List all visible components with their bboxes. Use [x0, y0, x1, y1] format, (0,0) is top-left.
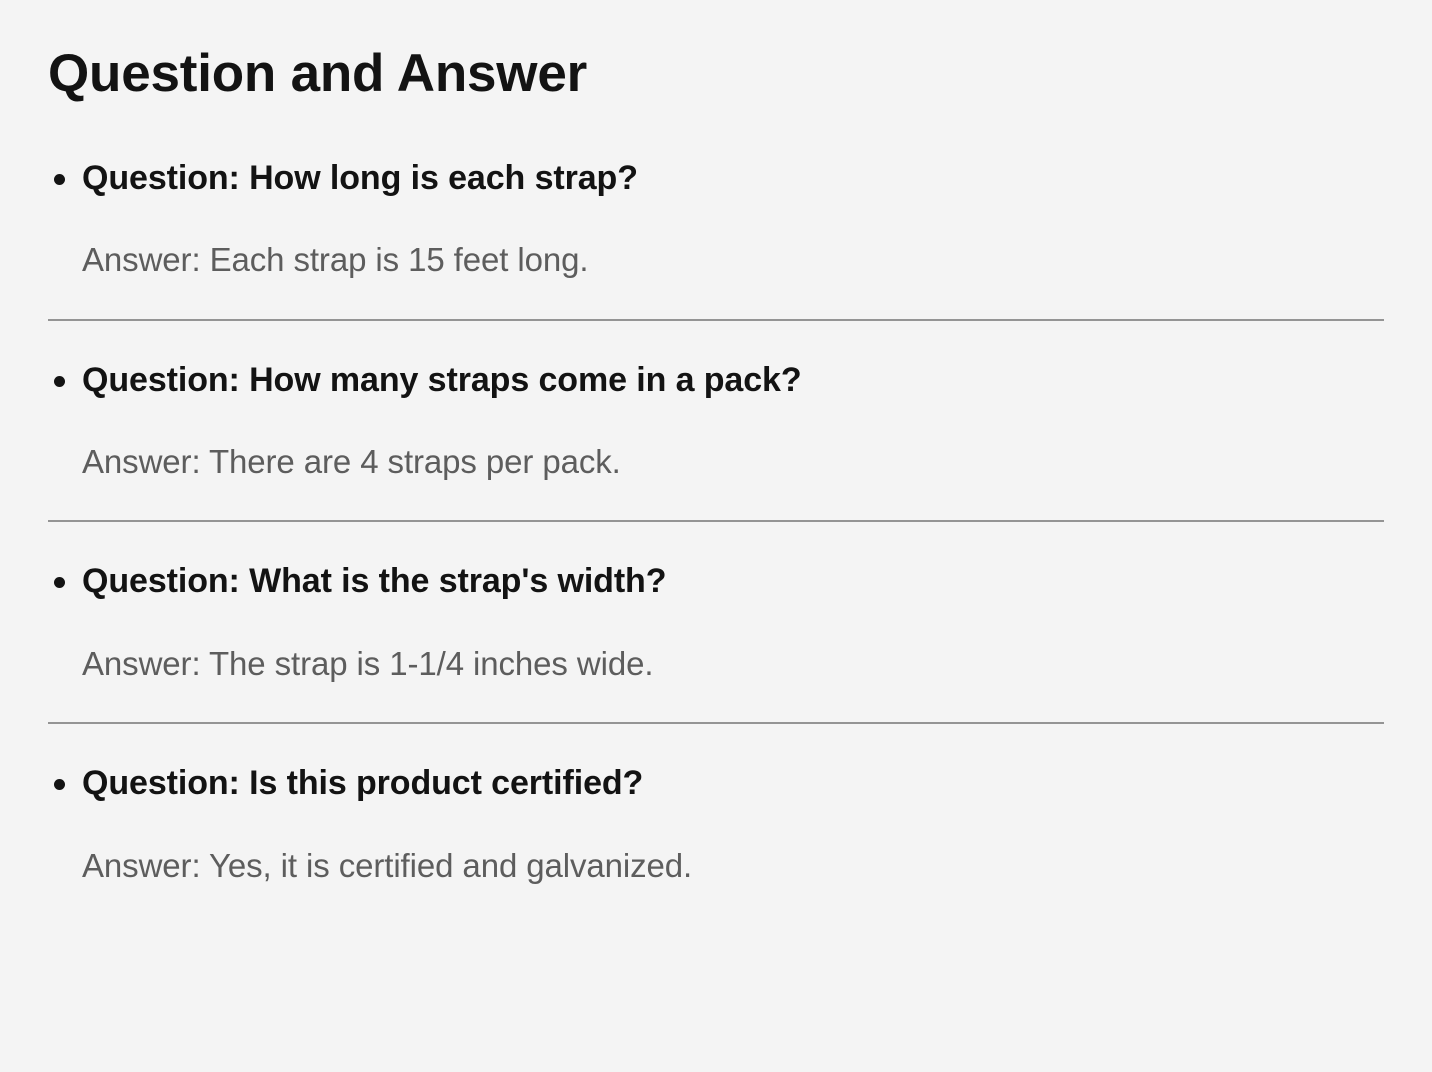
page-title: Question and Answer [48, 0, 1384, 105]
qa-list: Question: How long is each strap? Answer… [48, 157, 1384, 886]
bullet-dot-icon [54, 174, 65, 185]
qa-divider [48, 520, 1384, 522]
qa-item: Question: How many straps come in a pack… [48, 359, 1384, 523]
qa-question: Question: How many straps come in a pack… [82, 359, 1384, 402]
qa-answer: Answer: There are 4 straps per pack. [82, 441, 1384, 482]
qa-answer: Answer: The strap is 1-1/4 inches wide. [82, 643, 1384, 684]
qa-question: Question: What is the strap's width? [82, 560, 1384, 603]
question-and-answer-section: Question and Answer Question: How long i… [0, 0, 1432, 1072]
qa-item: Question: Is this product certified? Ans… [48, 762, 1384, 886]
bullet-dot-icon [54, 376, 65, 387]
qa-divider [48, 722, 1384, 724]
qa-answer: Answer: Yes, it is certified and galvani… [82, 845, 1384, 886]
bullet-dot-icon [54, 779, 65, 790]
qa-answer: Answer: Each strap is 15 feet long. [82, 239, 1384, 280]
bullet-dot-icon [54, 577, 65, 588]
qa-divider [48, 319, 1384, 321]
qa-question: Question: How long is each strap? [82, 157, 1384, 200]
qa-item: Question: How long is each strap? Answer… [48, 157, 1384, 321]
qa-question: Question: Is this product certified? [82, 762, 1384, 805]
qa-item: Question: What is the strap's width? Ans… [48, 560, 1384, 724]
